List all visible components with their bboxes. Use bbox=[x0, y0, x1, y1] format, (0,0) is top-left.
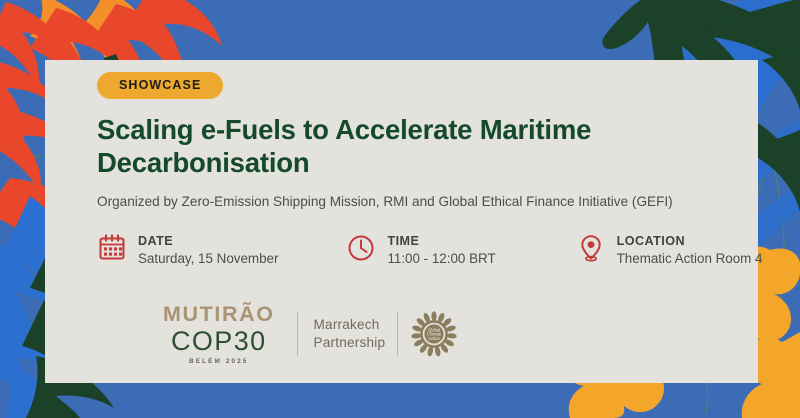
detail-value-location: Thematic Action Room 4 bbox=[617, 251, 763, 266]
cop30-host-text: BELÉM 2025 bbox=[163, 358, 275, 365]
marrakech-line-2: Partnership bbox=[314, 334, 386, 352]
global-climate-action-badge-icon: Global Climate Action bbox=[410, 310, 458, 358]
cop30-number-text: COP30 bbox=[163, 327, 275, 355]
logo-row: MUTIRÃO COP30 BELÉM 2025 Marrakech Partn… bbox=[163, 304, 458, 365]
marrakech-partnership-logo: Marrakech Partnership bbox=[314, 316, 386, 352]
cop30-logo: MUTIRÃO COP30 BELÉM 2025 bbox=[163, 304, 275, 365]
gca-text-line-3: Action bbox=[428, 336, 440, 341]
organizer-text: Organized by Zero-Emission Shipping Miss… bbox=[97, 193, 738, 211]
detail-label-time: TIME bbox=[387, 234, 419, 248]
location-pin-icon bbox=[576, 233, 606, 263]
detail-label-date: DATE bbox=[138, 234, 173, 248]
marrakech-line-1: Marrakech bbox=[314, 316, 386, 334]
page-title: Scaling e-Fuels to Accelerate Maritime D… bbox=[97, 113, 697, 180]
detail-label-location: LOCATION bbox=[617, 234, 685, 248]
detail-value-time: 11:00 - 12:00 BRT bbox=[387, 251, 495, 266]
detail-location: LOCATION Thematic Action Room 4 bbox=[576, 232, 763, 268]
detail-value-date: Saturday, 15 November bbox=[138, 251, 278, 266]
detail-date: DATE Saturday, 15 November bbox=[97, 232, 278, 268]
clock-icon bbox=[346, 233, 376, 263]
logo-divider bbox=[297, 312, 298, 356]
calendar-icon bbox=[97, 233, 127, 263]
event-poster: SHOWCASE Scaling e-Fuels to Accelerate M… bbox=[0, 0, 800, 418]
event-details: DATE Saturday, 15 November TIME bbox=[97, 232, 738, 268]
cop30-mutirao-text: MUTIRÃO bbox=[163, 304, 275, 326]
event-card: SHOWCASE Scaling e-Fuels to Accelerate M… bbox=[45, 60, 758, 383]
logo-divider-2 bbox=[397, 312, 398, 356]
detail-time: TIME 11:00 - 12:00 BRT bbox=[346, 232, 495, 268]
showcase-badge: SHOWCASE bbox=[97, 72, 223, 99]
